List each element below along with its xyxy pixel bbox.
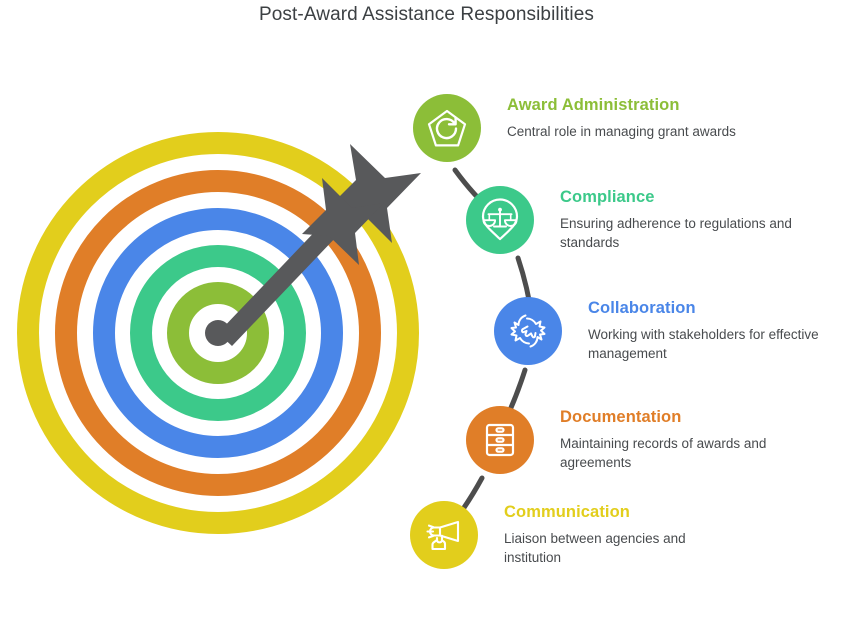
icon-badge-collaboration[interactable] [494, 297, 562, 365]
item-heading-documentation: Documentation [560, 408, 792, 427]
item-heading-award-administration: Award Administration [507, 96, 736, 115]
megaphone-icon [422, 513, 466, 557]
item-text-block: Compliance Ensuring adherence to regulat… [560, 186, 792, 252]
item-description-documentation: Maintaining records of awards and agreem… [560, 434, 792, 472]
list-item-collaboration[interactable]: Collaboration Working with stakeholders … [494, 297, 820, 365]
item-text-block: Documentation Maintaining records of awa… [560, 406, 792, 472]
icon-badge-communication[interactable] [410, 501, 478, 569]
item-heading-communication: Communication [504, 503, 736, 522]
page-title: Post-Award Assistance Responsibilities [0, 4, 853, 26]
icon-badge-award-administration[interactable] [413, 94, 481, 162]
item-description-collaboration: Working with stakeholders for effective … [588, 325, 820, 363]
item-description-award-administration: Central role in managing grant awards [507, 122, 736, 141]
handshake-icon [506, 309, 550, 353]
list-item-award-administration[interactable]: Award Administration Central role in man… [413, 94, 736, 162]
filing-cabinet-icon [478, 418, 522, 462]
list-item-compliance[interactable]: Compliance Ensuring adherence to regulat… [466, 186, 792, 254]
item-text-block: Collaboration Working with stakeholders … [588, 297, 820, 363]
item-description-compliance: Ensuring adherence to regulations and st… [560, 214, 792, 252]
item-heading-compliance: Compliance [560, 188, 792, 207]
item-text-block: Award Administration Central role in man… [507, 94, 736, 141]
item-text-block: Communication Liaison between agencies a… [504, 501, 736, 567]
list-item-communication[interactable]: Communication Liaison between agencies a… [410, 501, 736, 569]
item-description-communication: Liaison between agencies and institution [504, 529, 736, 567]
pentagon-refresh-icon [425, 106, 469, 150]
bullseye-target-with-arrow [0, 110, 440, 570]
list-item-documentation[interactable]: Documentation Maintaining records of awa… [466, 406, 792, 474]
scales-of-justice-pin-icon [478, 198, 522, 242]
icon-badge-compliance[interactable] [466, 186, 534, 254]
item-heading-collaboration: Collaboration [588, 299, 820, 318]
target-center-dot [205, 320, 231, 346]
icon-badge-documentation[interactable] [466, 406, 534, 474]
